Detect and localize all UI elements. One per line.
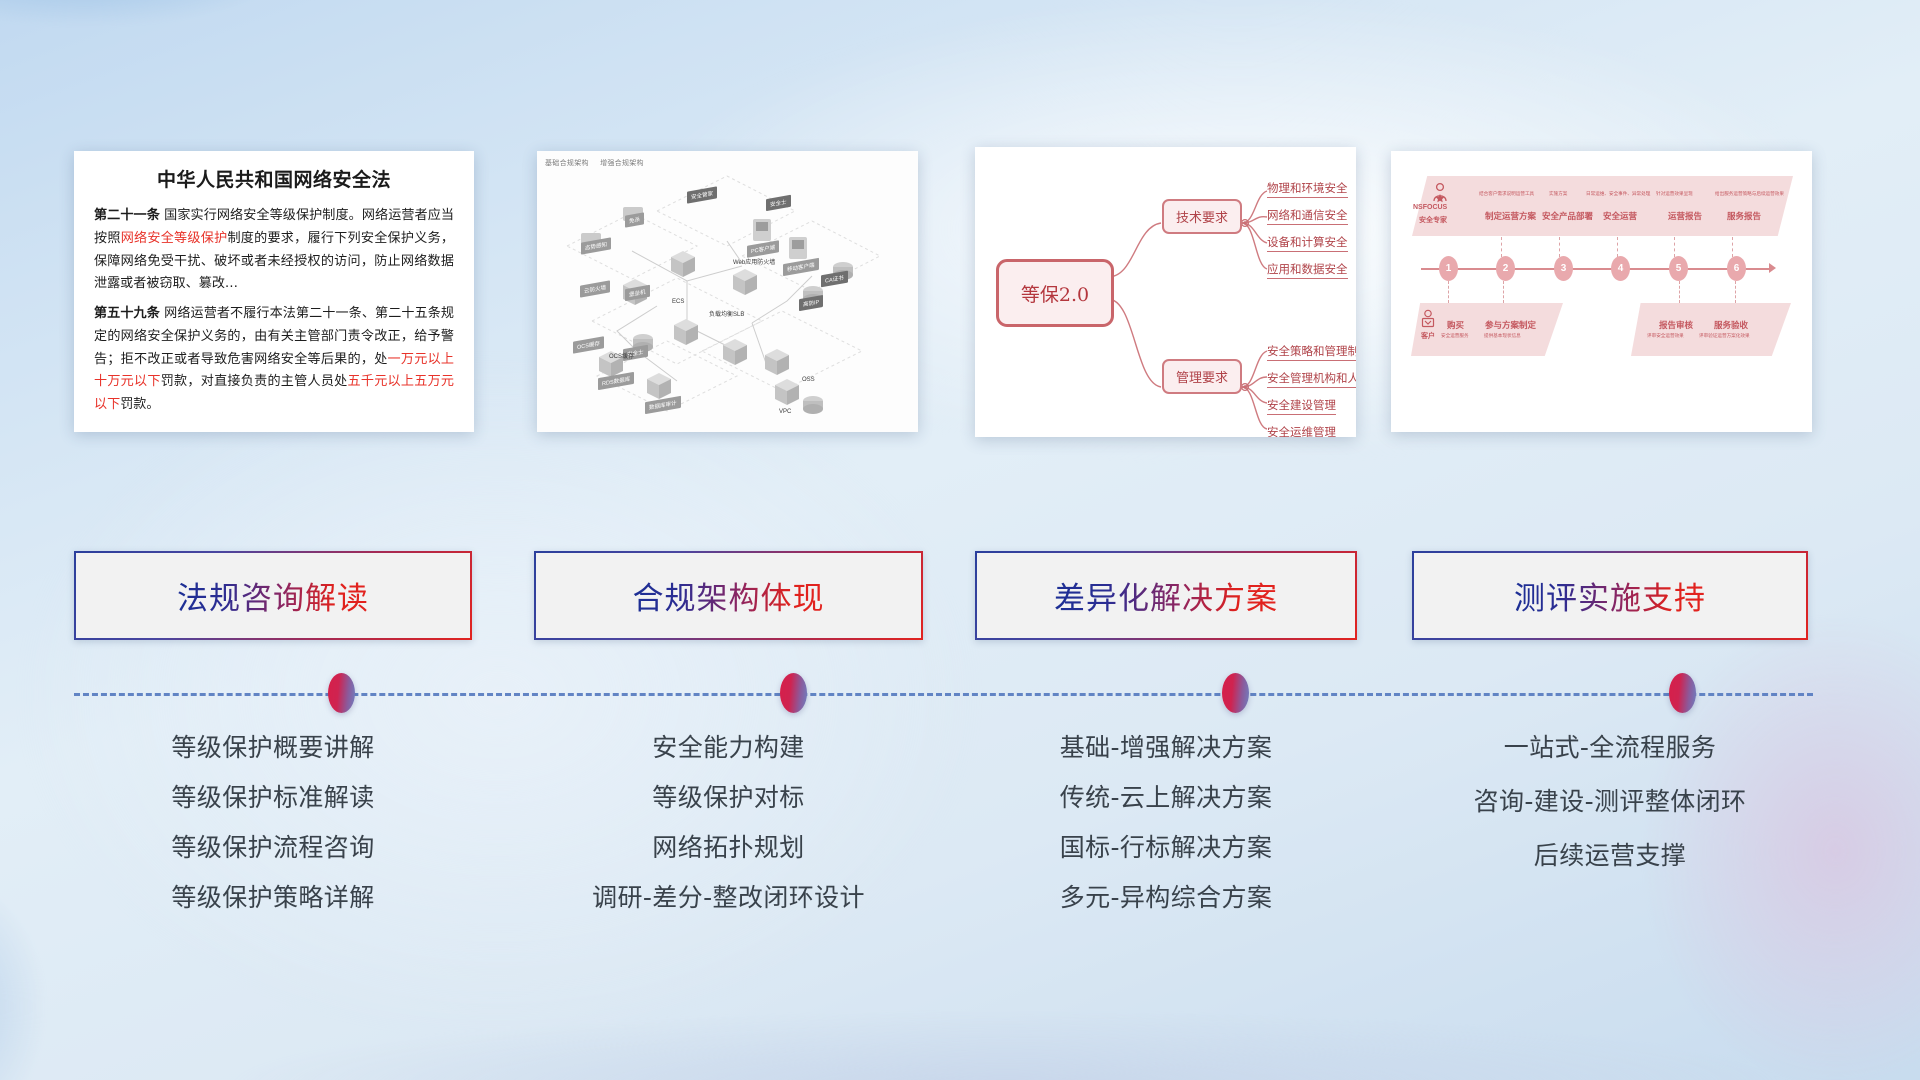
title-card-label-0: 法规咨询解读: [177, 573, 369, 618]
title-card-compliance-architecture[interactable]: 合规架构体现: [534, 551, 923, 640]
list-item: 等级保护对标: [534, 785, 923, 810]
list-item: 一站式-全流程服务: [1412, 735, 1808, 760]
detail-column-1: 安全能力构建 等级保护对标 网络拓扑规划 调研-差分-整改闭环设计: [534, 735, 923, 935]
detail-column-2: 基础-增强解决方案 传统-云上解决方案 国标-行标解决方案 多元-异构综合方案: [975, 735, 1357, 935]
list-item: 后续运营支撑: [1412, 843, 1808, 868]
timeline: [74, 692, 1813, 696]
title-card-label-3: 测评实施支持: [1514, 573, 1706, 618]
detail-column-3: 一站式-全流程服务 咨询-建设-测评整体闭环 后续运营支撑: [1412, 735, 1808, 897]
timeline-dot-3[interactable]: [1669, 673, 1696, 713]
detail-column-0: 等级保护概要讲解 等级保护标准解读 等级保护流程咨询 等级保护策略详解: [74, 735, 472, 935]
list-item: 传统-云上解决方案: [975, 785, 1357, 810]
title-card-assessment-support[interactable]: 测评实施支持: [1412, 551, 1808, 640]
list-item: 咨询-建设-测评整体闭环: [1412, 789, 1808, 814]
title-card-differentiated-solution[interactable]: 差异化解决方案: [975, 551, 1357, 640]
timeline-dot-1[interactable]: [780, 673, 807, 713]
list-item: 基础-增强解决方案: [975, 735, 1357, 760]
title-card-regulation-consulting[interactable]: 法规咨询解读: [74, 551, 472, 640]
timeline-dot-0[interactable]: [328, 673, 355, 713]
list-item: 国标-行标解决方案: [975, 835, 1357, 860]
list-item: 等级保护标准解读: [74, 785, 472, 810]
list-item: 调研-差分-整改闭环设计: [534, 885, 923, 910]
title-card-label-2: 差异化解决方案: [1054, 573, 1278, 618]
list-item: 等级保护概要讲解: [74, 735, 472, 760]
timeline-dot-2[interactable]: [1222, 673, 1249, 713]
list-item: 多元-异构综合方案: [975, 885, 1357, 910]
list-item: 安全能力构建: [534, 735, 923, 760]
detail-lists: 等级保护概要讲解 等级保护标准解读 等级保护流程咨询 等级保护策略详解 安全能力…: [0, 735, 1920, 1025]
list-item: 等级保护流程咨询: [74, 835, 472, 860]
title-card-label-1: 合规架构体现: [633, 573, 825, 618]
list-item: 网络拓扑规划: [534, 835, 923, 860]
list-item: 等级保护策略详解: [74, 885, 472, 910]
